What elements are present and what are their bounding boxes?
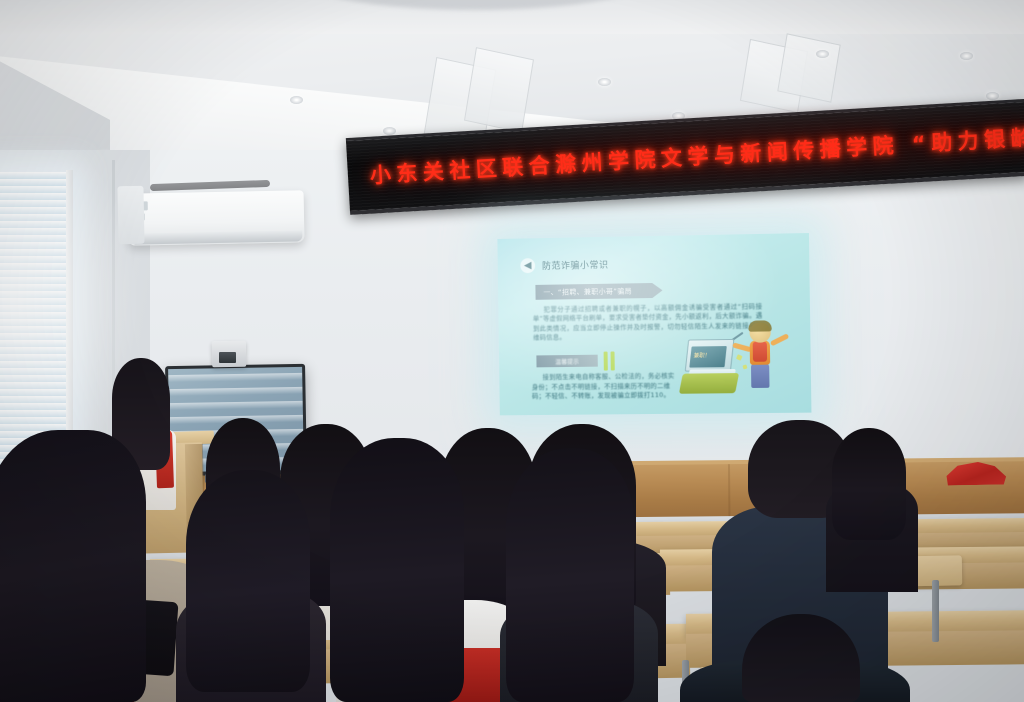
blind-slat xyxy=(0,354,72,361)
blind-slat xyxy=(0,221,72,228)
ceiling-panel xyxy=(464,47,534,133)
blind-slat xyxy=(0,340,72,347)
blind-slat xyxy=(0,410,72,417)
blind-slat xyxy=(0,284,72,291)
foreground-hair xyxy=(330,438,464,702)
ceiling-downlight xyxy=(986,92,999,100)
ceiling-downlight xyxy=(816,50,829,58)
projection-screen: ◀ 防范诈骗小常识 一、“招聘、兼职小哥”骗局 犯罪分子通过招聘或者兼职的幌子，… xyxy=(497,233,811,415)
blind-slat xyxy=(0,200,72,207)
air-conditioner-vent xyxy=(130,230,302,244)
blind-slat xyxy=(0,270,72,277)
window-with-blinds xyxy=(0,172,72,472)
window-blinds xyxy=(0,172,72,472)
blind-slat xyxy=(0,326,72,333)
blind-slat xyxy=(0,375,72,382)
foreground-hair xyxy=(186,470,310,692)
blind-slat xyxy=(0,207,72,214)
blind-slat xyxy=(0,277,72,284)
projector-lens-icon xyxy=(219,352,236,363)
blind-slat xyxy=(0,333,72,340)
ceiling-downlight xyxy=(290,96,303,104)
blind-slat xyxy=(0,347,72,354)
ceiling-panel xyxy=(777,33,841,102)
foreground-hair xyxy=(0,430,146,702)
blind-slat xyxy=(0,193,72,200)
ceiling-downlight xyxy=(383,127,396,135)
blind-slat xyxy=(0,242,72,249)
blind-slat xyxy=(0,298,72,305)
blind-slat xyxy=(0,319,72,326)
blind-slat xyxy=(0,256,72,263)
blind-slat xyxy=(0,396,72,403)
blind-slat xyxy=(0,389,72,396)
blind-slat xyxy=(0,249,72,256)
ceiling-downlight xyxy=(598,78,611,86)
blind-slat xyxy=(0,382,72,389)
ceiling-downlight xyxy=(960,52,973,60)
audience-hair xyxy=(832,428,906,540)
blind-slat xyxy=(0,179,72,186)
air-conditioner xyxy=(128,190,305,245)
blind-slat xyxy=(0,291,72,298)
blind-slat xyxy=(0,312,72,319)
blind-slat xyxy=(0,263,72,270)
blind-slat xyxy=(0,403,72,410)
blind-slat xyxy=(0,305,72,312)
blind-slat xyxy=(0,368,72,375)
chair-leg xyxy=(932,580,939,642)
blind-slat xyxy=(0,417,72,424)
blind-slat xyxy=(0,361,72,368)
air-conditioner-side xyxy=(117,186,144,244)
blind-slat xyxy=(0,228,72,235)
blind-slat xyxy=(0,235,72,242)
projection-screen-highlight xyxy=(497,233,811,415)
blind-slat xyxy=(0,214,72,221)
blind-slat xyxy=(0,186,72,193)
window-frame xyxy=(66,170,73,474)
blind-slat xyxy=(0,172,72,179)
foreground-hair xyxy=(506,448,634,702)
classroom-photo-scene: 小东关社区联合滁州学院文学与新闻传播学院 “助力银龄可遥寄于鸿沟 ◀ 防范诈骗小… xyxy=(0,0,1024,702)
